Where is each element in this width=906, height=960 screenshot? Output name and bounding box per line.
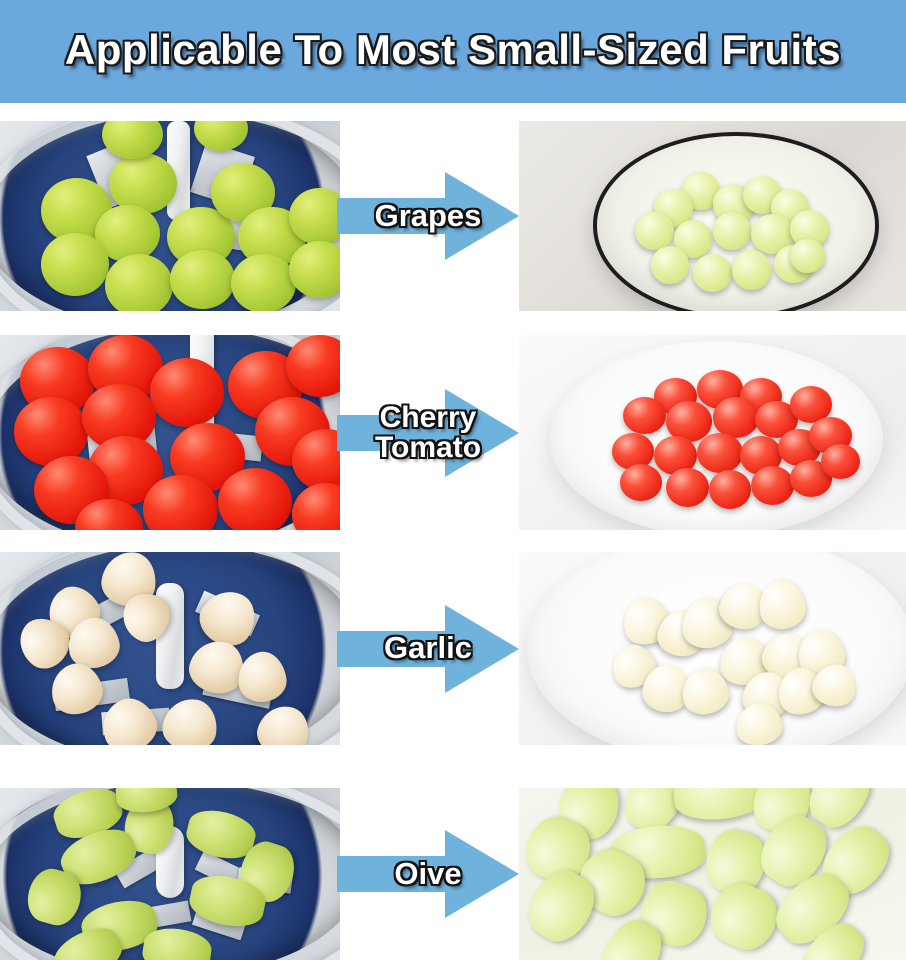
before-image-garlic	[0, 552, 340, 745]
page-title: Applicable To Most Small-Sized Fruits	[65, 26, 841, 74]
photo-grapes-bowl	[519, 121, 906, 311]
row-olive: Oive	[0, 788, 906, 960]
photo-garlic-plate	[519, 552, 906, 745]
infographic-page: Applicable To Most Small-Sized Fruits	[0, 0, 906, 960]
arrow-right-icon	[337, 383, 519, 483]
after-image-grapes	[519, 121, 906, 311]
row-garlic: Garlic	[0, 552, 906, 745]
arrow-cherry-tomato: Cherry Tomato	[337, 335, 519, 530]
photo-tomato-machine	[0, 335, 340, 530]
header-banner: Applicable To Most Small-Sized Fruits	[0, 0, 906, 103]
row-grapes: Grapes	[0, 121, 906, 311]
photo-tomato-plate	[519, 335, 906, 530]
arrow-olive: Oive	[337, 788, 519, 960]
photo-garlic-machine	[0, 552, 340, 745]
photo-olive-machine	[0, 788, 340, 960]
arrow-label-olive: Oive	[394, 859, 461, 889]
arrow-label-grapes: Grapes	[375, 201, 482, 231]
after-image-cherry-tomato	[519, 335, 906, 530]
arrow-garlic: Garlic	[337, 552, 519, 745]
arrow-label-cherry-tomato: Cherry Tomato	[375, 403, 481, 462]
row-cherry-tomato: Cherry Tomato	[0, 335, 906, 530]
before-image-grapes	[0, 121, 340, 311]
arrow-label-garlic: Garlic	[384, 633, 472, 663]
arrow-right-icon	[337, 599, 519, 699]
after-image-garlic	[519, 552, 906, 745]
arrow-right-icon	[337, 166, 519, 266]
arrow-grapes: Grapes	[337, 121, 519, 311]
before-image-olive	[0, 788, 340, 960]
arrow-right-icon	[337, 824, 519, 924]
before-image-cherry-tomato	[0, 335, 340, 530]
photo-olive-closeup	[519, 788, 906, 960]
after-image-olive	[519, 788, 906, 960]
photo-grapes-machine	[0, 121, 340, 311]
